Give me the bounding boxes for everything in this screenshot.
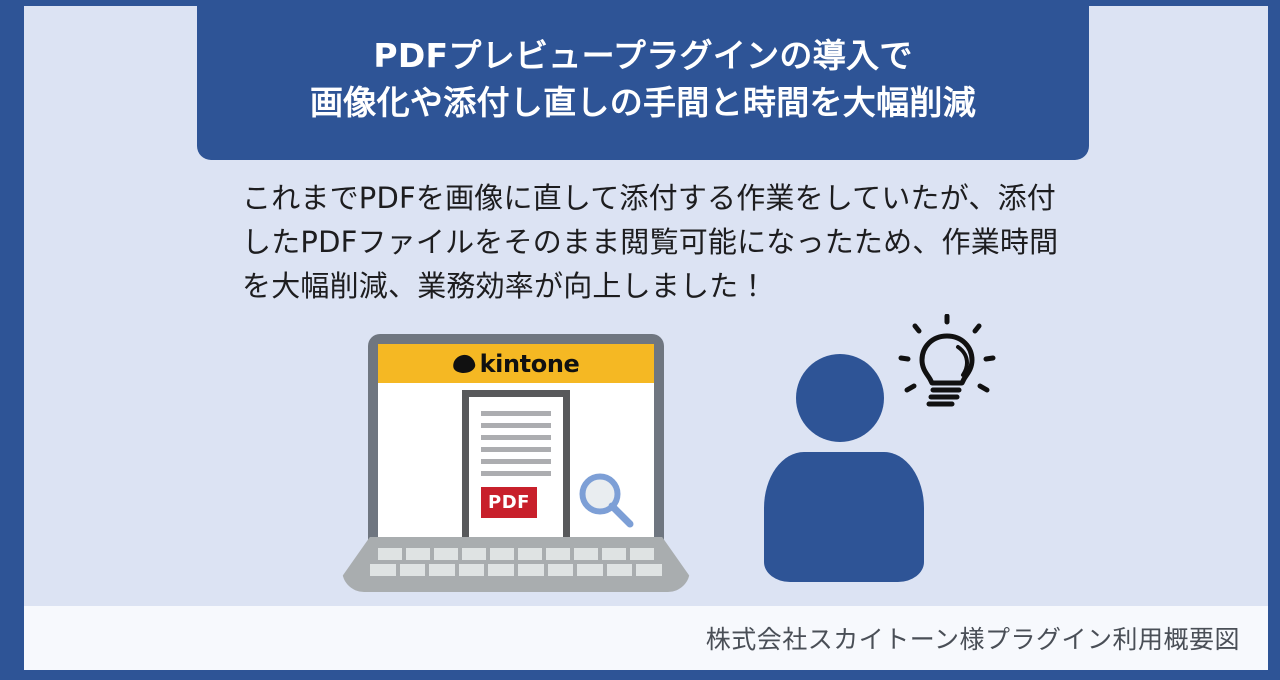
keyboard-key [602, 548, 626, 560]
footer-band: 株式会社スカイトーン様プラグイン利用概要図 [24, 606, 1268, 670]
keyboard-key [429, 564, 455, 576]
pdf-badge: PDF [481, 487, 537, 518]
slide-canvas: PDFプレビュープラグインの導入で 画像化や添付し直しの手間と時間を大幅削減 こ… [24, 6, 1268, 670]
laptop-lid: kintone PDF [368, 334, 664, 541]
doc-text-line [481, 411, 551, 416]
keyboard-key [434, 548, 458, 560]
doc-text-line [481, 435, 551, 440]
laptop-screen: kintone PDF [378, 344, 654, 541]
keyboard-key [518, 564, 544, 576]
header-banner: PDFプレビュープラグインの導入で 画像化や添付し直しの手間と時間を大幅削減 [197, 6, 1089, 160]
keyboard-key [607, 564, 633, 576]
lightbulb-idea-icon [892, 314, 1002, 424]
keyboard-key [518, 548, 542, 560]
keyboard-row [342, 564, 690, 576]
keyboard-key [577, 564, 603, 576]
keyboard-key [574, 548, 598, 560]
keyboard-key [636, 564, 662, 576]
keyboard-key [488, 564, 514, 576]
footer-caption: 株式会社スカイトーン様プラグイン利用概要図 [706, 620, 1240, 656]
page-title: PDFプレビュープラグインの導入で 画像化や添付し直しの手間と時間を大幅削減 [310, 33, 976, 127]
pdf-preview-page: PDF [469, 397, 563, 541]
keyboard-key [548, 564, 574, 576]
keyboard-row [342, 548, 690, 560]
keyboard-key [406, 548, 430, 560]
person-head [796, 354, 884, 442]
illustration-area: kintone PDF [24, 306, 1268, 606]
body-paragraph: これまでPDFを画像に直して添付する作業をしていたが、添付したPDFファイルをそ… [242, 176, 1072, 308]
doc-text-line [481, 471, 551, 476]
doc-text-line [481, 423, 551, 428]
kintone-app-bar: kintone [378, 344, 654, 383]
kintone-blob-icon [451, 353, 475, 374]
keyboard-key [490, 548, 514, 560]
doc-text-line [481, 459, 551, 464]
laptop-illustration: kintone PDF [342, 334, 690, 592]
keyboard-key [378, 548, 402, 560]
keyboard-key [370, 564, 396, 576]
doc-text-line [481, 447, 551, 452]
keyboard-key [546, 548, 570, 560]
magnifying-glass-icon [575, 469, 637, 531]
pdf-preview-frame: PDF [462, 390, 570, 541]
keyboard-key [630, 548, 654, 560]
laptop-base [342, 537, 690, 592]
keyboard-key [459, 564, 485, 576]
slide-frame: PDFプレビュープラグインの導入で 画像化や添付し直しの手間と時間を大幅削減 こ… [0, 0, 1280, 680]
person-body [764, 452, 924, 582]
keyboard-key [400, 564, 426, 576]
keyboard-key [462, 548, 486, 560]
kintone-brand-label: kintone [480, 352, 580, 376]
